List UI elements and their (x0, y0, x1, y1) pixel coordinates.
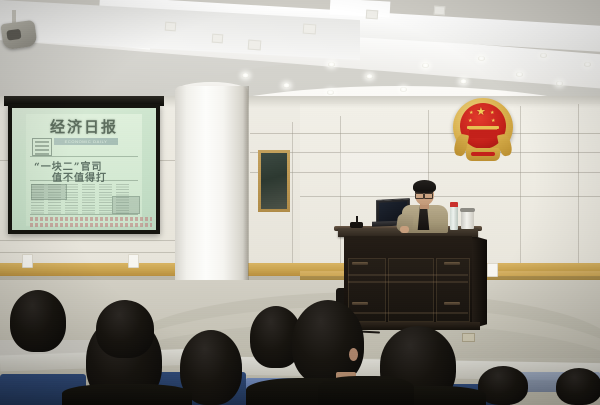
emblem-large-star-icon: ★ (476, 107, 486, 118)
audience-head (556, 368, 600, 405)
audience-shoulders (318, 376, 414, 405)
emblem-small-star-icon: ★ (468, 119, 472, 124)
downlight-icon (400, 87, 407, 92)
downlight-icon (478, 56, 485, 61)
wall-outlet (22, 254, 33, 268)
ceiling-vent (434, 6, 446, 16)
podium-drawer-pull[interactable] (352, 302, 368, 305)
podium-front (344, 236, 472, 326)
downlight-icon (328, 62, 335, 67)
downlight-icon (460, 79, 467, 84)
ceiling-vent (165, 22, 177, 32)
floor-outlet-box (462, 333, 475, 342)
audience-head (10, 290, 66, 352)
podium-drawer-pull[interactable] (444, 302, 460, 305)
ceiling-vent (303, 24, 317, 35)
newspaper-column (82, 184, 95, 214)
audience-ear (349, 348, 358, 361)
national-emblem: ★ ★ ★ ★ ★ (452, 96, 514, 172)
ceiling-vent (366, 10, 379, 20)
window-glass (261, 153, 287, 209)
microphone-arm (356, 216, 358, 224)
water-bottle[interactable] (450, 206, 458, 230)
wall-outlet (128, 254, 139, 268)
projection-screen-surface: 经济日报 ECONOMIC DAILY “一块二”官司 值不值得打 (12, 108, 156, 230)
ceiling-vent (248, 40, 262, 51)
wall-seam (578, 104, 579, 270)
podium-moulding (348, 274, 468, 276)
newspaper-footer-banner (30, 217, 152, 221)
emblem-small-star-icon: ★ (469, 111, 473, 116)
downlight-icon (516, 72, 523, 77)
speaker-hand (400, 226, 409, 233)
downlight-icon (556, 81, 563, 86)
newspaper-index-box (32, 138, 52, 156)
newspaper-rule (30, 214, 138, 215)
ceiling-notch (330, 0, 391, 18)
emblem-small-star-icon: ★ (490, 111, 494, 116)
newspaper-rule (30, 156, 138, 157)
auditorium-photo: ★ ★ ★ ★ ★ 经济日报 ECONOMIC DAILY “一块二”官司 值不… (0, 0, 600, 405)
newspaper-masthead: 经济日报 (36, 117, 132, 137)
wall-seam (0, 252, 178, 253)
downlight-icon (422, 63, 429, 68)
downlight-icon (584, 62, 591, 67)
cup-lid (460, 208, 475, 212)
podium-moulding (348, 281, 468, 283)
newspaper-column (99, 184, 112, 214)
wall-seam (300, 196, 600, 197)
wall-seam (250, 133, 600, 134)
audience-shoulders (62, 384, 192, 405)
newspaper-slide: 经济日报 ECONOMIC DAILY “一块二”官司 值不值得打 (26, 114, 142, 226)
wall-outlet (487, 263, 498, 277)
bottle-cap (450, 202, 458, 207)
audience-head (96, 300, 154, 358)
downlight-icon (366, 74, 373, 79)
wall-seam (520, 106, 521, 268)
newspaper-footer-banner (30, 223, 152, 227)
newspaper-photo (112, 196, 140, 214)
emblem-tiananmen-gate (469, 126, 497, 138)
newspaper-headline-line2: 值不值得打 (52, 169, 142, 184)
emblem-base (466, 148, 500, 161)
wall-seam (0, 240, 178, 241)
downlight-icon (242, 73, 249, 78)
ceiling-vent (212, 34, 224, 44)
control-room-window (258, 150, 290, 212)
downlight-icon (283, 83, 290, 88)
downlight-icon (327, 90, 334, 95)
podium-moulding (348, 312, 468, 314)
paper-cup[interactable] (461, 210, 474, 229)
newspaper-masthead-latin-text: ECONOMIC DAILY (54, 138, 118, 145)
newspaper-photo (31, 184, 67, 200)
speaker-glasses (415, 191, 433, 197)
downlight-icon (540, 53, 547, 58)
podium-drawer-pull[interactable] (352, 262, 368, 265)
wall-seam (292, 122, 293, 266)
newspaper-masthead-latin: ECONOMIC DAILY (54, 138, 118, 145)
podium-drawer-pull[interactable] (444, 262, 460, 265)
emblem-small-star-icon: ★ (491, 119, 495, 124)
